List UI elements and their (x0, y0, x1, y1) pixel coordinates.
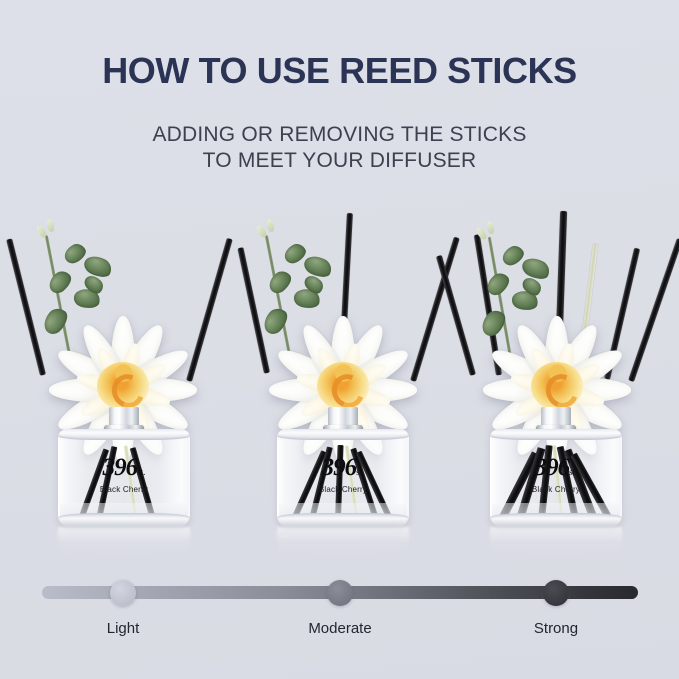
eucalyptus-bud (486, 220, 496, 234)
flower-stamen (342, 373, 345, 382)
flower-stamen (122, 372, 128, 381)
bottle-jar: 396st. Black Cherry (490, 429, 622, 527)
flower-center (317, 362, 369, 410)
bottle-jar: 396st. Black Cherry (277, 429, 409, 527)
flower-stamen (556, 372, 562, 381)
flower-stamen (556, 373, 559, 382)
bottle-reflection (58, 527, 190, 561)
flower-stamen (342, 372, 350, 381)
slider-label-light: Light (63, 620, 183, 637)
slider-labels: Light Moderate Strong (42, 620, 638, 642)
eucalyptus-leaf (265, 267, 295, 296)
slider-knob-light[interactable] (110, 580, 136, 606)
slider-knob-moderate[interactable] (327, 580, 353, 606)
eucalyptus-leaf (45, 267, 75, 296)
eucalyptus-bud (46, 218, 56, 232)
bottle-rim-top (490, 429, 622, 440)
eucalyptus-bud (266, 218, 276, 232)
infographic-canvas: HOW TO USE REED STICKS ADDING OR REMOVIN… (0, 0, 679, 679)
flower-stamen (556, 372, 564, 381)
page-title: HOW TO USE REED STICKS (0, 52, 679, 90)
scent-name: Black Cherry (277, 485, 409, 494)
bottle-rim-bottom (490, 513, 622, 527)
subtitle-line-1: ADDING OR REMOVING THE STICKS (152, 123, 526, 146)
page-subtitle: ADDING OR REMOVING THE STICKS TO MEET YO… (0, 122, 679, 173)
slider-label-moderate: Moderate (280, 620, 400, 637)
brand-logo: 396st. (58, 455, 190, 480)
diffuser-bottle-moderate: 396st. Black Cherry (277, 429, 409, 527)
bottle-label: 396st. Black Cherry (58, 455, 190, 494)
slider-knob-strong[interactable] (543, 580, 569, 606)
bottle-reflection (277, 527, 409, 561)
bottle-reflection (490, 527, 622, 561)
subtitle-line-2: TO MEET YOUR DIFFUSER (0, 148, 679, 174)
bottle-rim-top (277, 429, 409, 440)
scent-name: Black Cherry (58, 485, 190, 494)
flower-center (531, 362, 583, 410)
flower-center (97, 362, 149, 410)
bottle-jar: 396st. Black Cherry (58, 429, 190, 527)
bottle-rim-bottom (58, 513, 190, 527)
bottle-rim-bottom (277, 513, 409, 527)
diffuser-bottle-strong: 396st. Black Cherry (490, 429, 622, 527)
flower-stamen (122, 373, 125, 382)
flower-stamen (122, 372, 130, 381)
diffuser-bottle-light: 396st. Black Cherry (58, 429, 190, 527)
intensity-slider[interactable] (42, 583, 638, 603)
bottle-rim-top (58, 429, 190, 440)
flower-stamen (342, 372, 348, 381)
slider-label-strong: Strong (496, 620, 616, 637)
